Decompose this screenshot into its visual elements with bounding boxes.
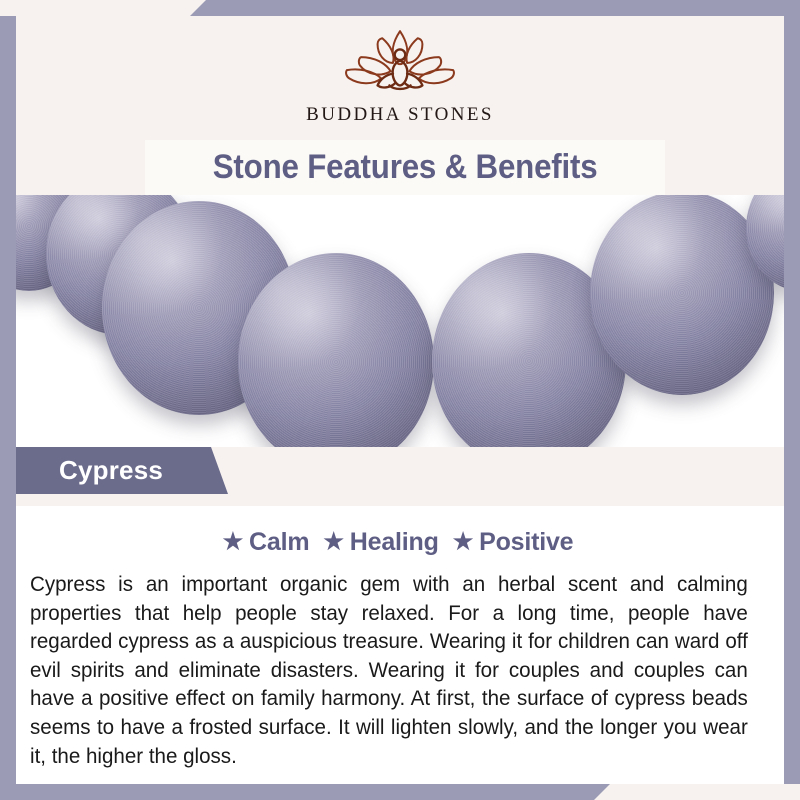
stone-label-banner: Cypress xyxy=(16,447,228,494)
description-panel: ★Calm★Healing★Positive Cypress is an imp… xyxy=(16,506,784,784)
keyword-healing: Healing xyxy=(350,528,439,556)
frame-border-top xyxy=(0,0,800,16)
lotus-meditation-figure-icon xyxy=(341,26,459,100)
page-title: Stone Features & Benefits xyxy=(213,148,598,187)
keyword-positive: Positive xyxy=(479,528,573,556)
stone-name: Cypress xyxy=(59,455,163,486)
star-icon: ★ xyxy=(453,528,473,554)
content-canvas: BUDDHA STONES Stone Features & Benefits … xyxy=(16,16,784,784)
bead xyxy=(238,253,434,447)
stone-label-underline xyxy=(16,494,784,506)
brand-header: BUDDHA STONES xyxy=(16,16,784,142)
brand-logo: BUDDHA STONES xyxy=(16,26,784,126)
star-icon: ★ xyxy=(323,528,343,554)
keyword-calm: Calm xyxy=(249,528,309,556)
description-text: Cypress is an important organic gem with… xyxy=(30,571,748,771)
frame-border-left xyxy=(0,16,16,784)
keyword-list: ★Calm★Healing★Positive xyxy=(16,528,784,557)
stone-features-infographic: BUDDHA STONES Stone Features & Benefits … xyxy=(0,0,800,800)
bead-photo xyxy=(16,195,784,447)
frame-border-bottom xyxy=(0,784,800,800)
title-banner: Stone Features & Benefits xyxy=(145,140,665,195)
brand-name: BUDDHA STONES xyxy=(16,104,784,126)
star-icon: ★ xyxy=(223,528,243,554)
stone-label-strip: Cypress xyxy=(16,447,784,494)
frame-border-right xyxy=(784,0,800,784)
